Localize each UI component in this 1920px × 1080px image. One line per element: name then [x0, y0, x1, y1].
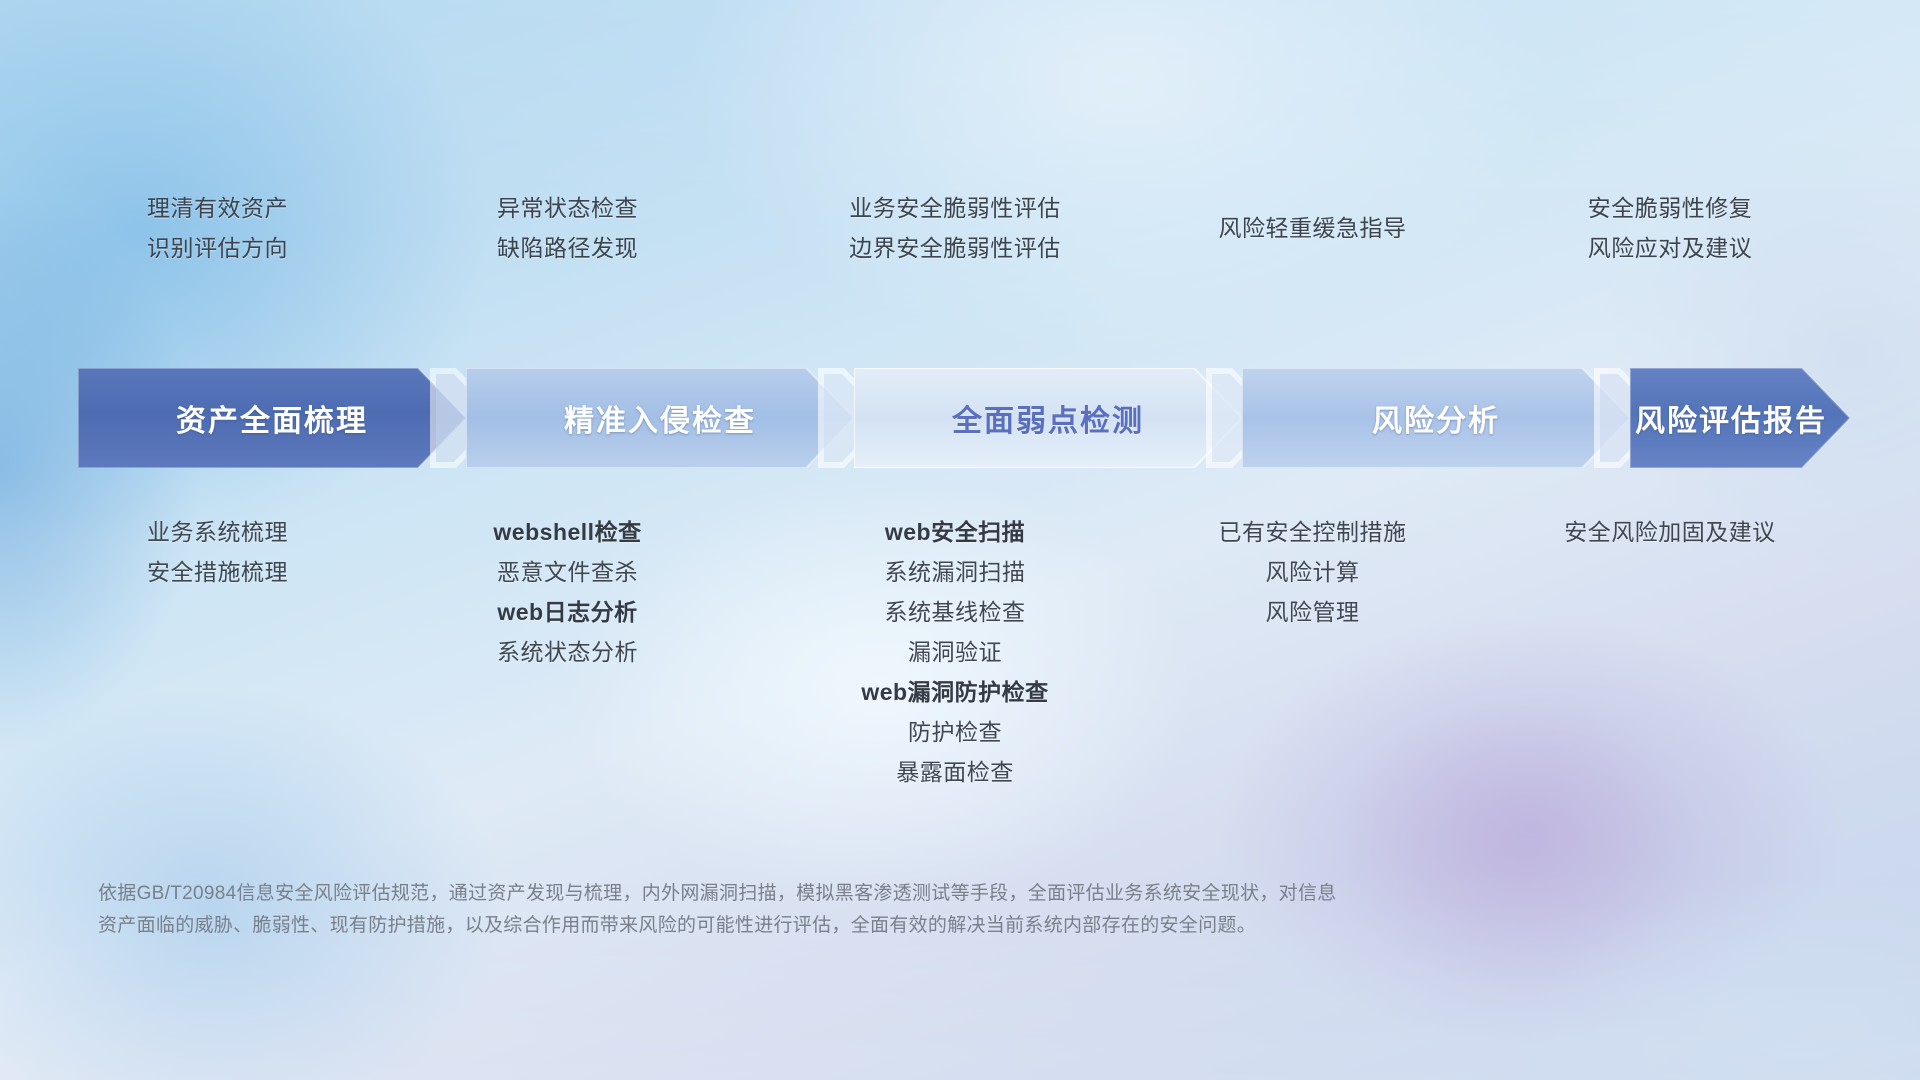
top-labels-weakness-detection: 业务安全脆弱性评估 边界安全脆弱性评估: [790, 188, 1120, 268]
top-labels-assessment-report: 安全脆弱性修复 风险应对及建议: [1500, 188, 1840, 268]
bottom-label-item: 风险计算: [1160, 552, 1465, 592]
top-labels-risk-analysis: 风险轻重缓急指导: [1160, 208, 1465, 248]
bottom-label-item: 暴露面检查: [790, 752, 1120, 792]
bottom-label-item: web安全扫描: [790, 512, 1120, 552]
stage-chevron-weakness-detection[interactable]: 全面弱点检测: [854, 368, 1242, 468]
top-label-item: 识别评估方向: [65, 228, 370, 268]
bottom-label-item: 防护检查: [790, 712, 1120, 752]
bottom-label-item: web漏洞防护检查: [790, 672, 1120, 712]
bottom-labels-weakness-detection: web安全扫描 系统漏洞扫描 系统基线检查 漏洞验证 web漏洞防护检查 防护检…: [790, 512, 1120, 792]
stage-chevron-risk-analysis[interactable]: 风险分析: [1242, 368, 1630, 468]
bottom-label-item: web日志分析: [415, 592, 720, 632]
bottom-label-item: webshell检查: [415, 512, 720, 552]
bottom-label-item: 已有安全控制措施: [1160, 512, 1465, 552]
bottom-label-item: 系统基线检查: [790, 592, 1120, 632]
bottom-label-item: 恶意文件查杀: [415, 552, 720, 592]
top-label-item: 异常状态检查: [415, 188, 720, 228]
top-label-item: 缺陷路径发现: [415, 228, 720, 268]
top-label-item: 理清有效资产: [65, 188, 370, 228]
bottom-label-item: 系统漏洞扫描: [790, 552, 1120, 592]
stage-chevron-asset-inventory[interactable]: 资产全面梳理: [78, 368, 466, 468]
stage-title: 资产全面梳理: [176, 396, 368, 440]
top-label-item: 风险轻重缓急指导: [1160, 208, 1465, 248]
top-label-item: 风险应对及建议: [1500, 228, 1840, 268]
bottom-label-item: 风险管理: [1160, 592, 1465, 632]
stage-chevron-assessment-report[interactable]: 风险评估报告: [1630, 368, 1850, 468]
footer-line-2: 资产面临的威胁、脆弱性、现有防护措施，以及综合作用而带来风险的可能性进行评估，全…: [98, 910, 1658, 942]
stage-title: 全面弱点检测: [952, 396, 1144, 440]
bottom-labels-risk-analysis: 已有安全控制措施 风险计算 风险管理: [1160, 512, 1465, 632]
stage-title: 精准入侵检查: [564, 396, 756, 440]
stage-chevron-intrusion-check[interactable]: 精准入侵检查: [466, 368, 854, 468]
top-label-item: 安全脆弱性修复: [1500, 188, 1840, 228]
bottom-labels-intrusion-check: webshell检查 恶意文件查杀 web日志分析 系统状态分析: [415, 512, 720, 672]
bottom-label-item: 安全措施梳理: [65, 552, 370, 592]
top-label-item: 业务安全脆弱性评估: [790, 188, 1120, 228]
process-flow-diagram: 理清有效资产 识别评估方向 异常状态检查 缺陷路径发现 业务安全脆弱性评估 边界…: [0, 0, 1920, 1080]
stage-chevron-band: 资产全面梳理 精准入侵检查: [78, 368, 1850, 468]
top-label-item: 边界安全脆弱性评估: [790, 228, 1120, 268]
top-labels-asset-inventory: 理清有效资产 识别评估方向: [65, 188, 370, 268]
bottom-label-item: 漏洞验证: [790, 632, 1120, 672]
bottom-labels-assessment-report: 安全风险加固及建议: [1500, 512, 1840, 552]
footer-line-1: 依据GB/T20984信息安全风险评估规范，通过资产发现与梳理，内外网漏洞扫描，…: [98, 878, 1658, 910]
bottom-label-item: 安全风险加固及建议: [1500, 512, 1840, 552]
stage-title: 风险评估报告: [1635, 396, 1827, 440]
bottom-label-item: 业务系统梳理: [65, 512, 370, 552]
footer-description: 依据GB/T20984信息安全风险评估规范，通过资产发现与梳理，内外网漏洞扫描，…: [98, 878, 1658, 942]
bottom-labels-asset-inventory: 业务系统梳理 安全措施梳理: [65, 512, 370, 592]
stage-title: 风险分析: [1372, 396, 1500, 440]
bottom-label-item: 系统状态分析: [415, 632, 720, 672]
top-labels-intrusion-check: 异常状态检查 缺陷路径发现: [415, 188, 720, 268]
